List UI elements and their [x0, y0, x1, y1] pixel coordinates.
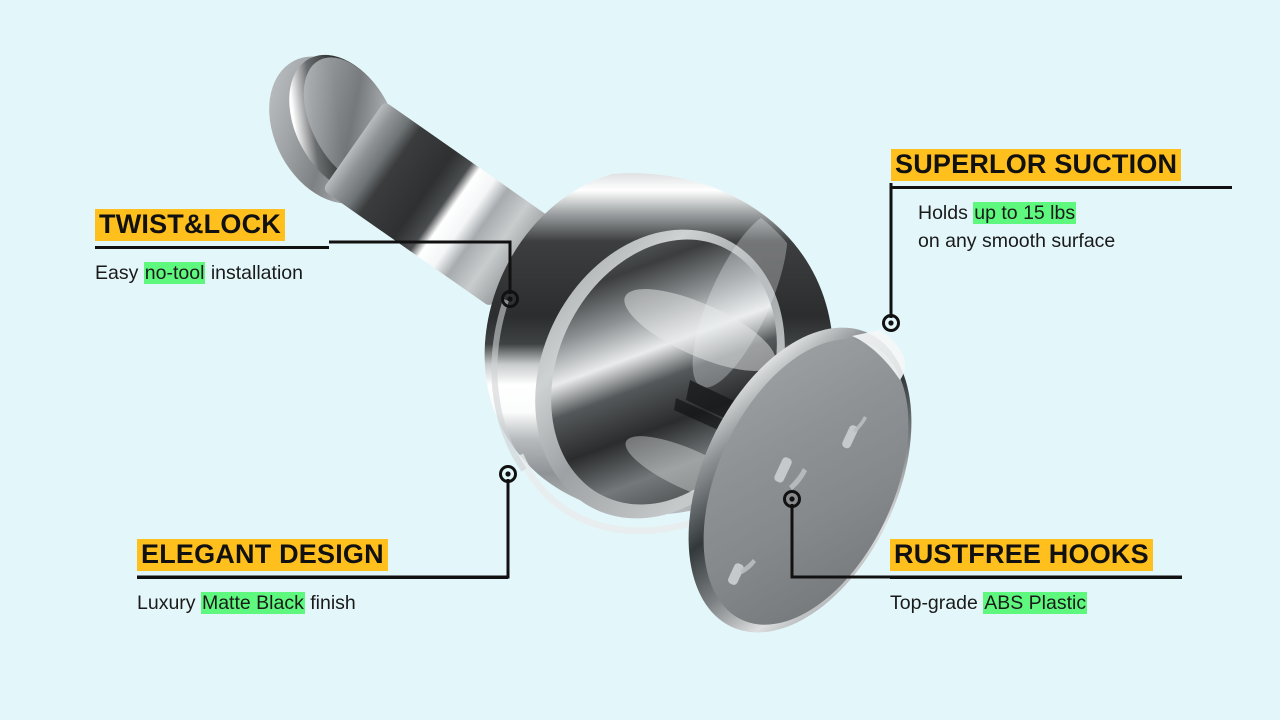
callout-rule-elegant-design	[137, 576, 508, 579]
callout-body-prefix: Holds	[918, 202, 973, 224]
callout-body-twist-lock: Easy no-tool installation	[95, 259, 329, 288]
callout-body-line2: on any smooth surface	[918, 227, 1232, 256]
callout-body-prefix: Top-grade	[890, 592, 983, 614]
callout-body-superlor-suction: Holds up to 15 lbs on any smooth surface	[891, 199, 1232, 257]
callout-body-elegant-design: Luxury Matte Black finish	[137, 589, 508, 618]
infographic-canvas: TWIST&LOCK Easy no-tool installation SUP…	[0, 0, 1280, 720]
callout-rule-twist-lock	[95, 246, 329, 249]
callout-body-rustfree-hooks: Top-grade ABS Plastic	[890, 589, 1182, 618]
callout-body-suffix: installation	[205, 262, 303, 284]
callout-body-highlight: no-tool	[144, 262, 206, 284]
callout-body-line1: Holds up to 15 lbs	[918, 199, 1232, 228]
callout-body-suffix: finish	[305, 592, 356, 614]
callout-elegant-design: ELEGANT DESIGN Luxury Matte Black finish	[137, 539, 508, 617]
callout-heading-twist-lock: TWIST&LOCK	[95, 209, 285, 241]
callout-superlor-suction: SUPERLOR SUCTION Holds up to 15 lbs on a…	[891, 149, 1232, 256]
callout-rustfree-hooks: RUSTFREE HOOKS Top-grade ABS Plastic	[890, 539, 1182, 617]
callout-rule-superlor-suction	[891, 186, 1232, 189]
callout-rule-rustfree-hooks	[890, 576, 1182, 579]
callout-twist-lock: TWIST&LOCK Easy no-tool installation	[95, 209, 329, 287]
callout-body-highlight: Matte Black	[201, 592, 305, 614]
callout-body-highlight: ABS Plastic	[983, 592, 1087, 614]
callout-body-highlight: up to 15 lbs	[973, 202, 1076, 224]
callout-heading-superlor-suction: SUPERLOR SUCTION	[891, 149, 1181, 181]
callout-body-prefix: Easy	[95, 262, 144, 284]
callout-heading-elegant-design: ELEGANT DESIGN	[137, 539, 388, 571]
callout-heading-rustfree-hooks: RUSTFREE HOOKS	[890, 539, 1153, 571]
callout-body-prefix: Luxury	[137, 592, 201, 614]
